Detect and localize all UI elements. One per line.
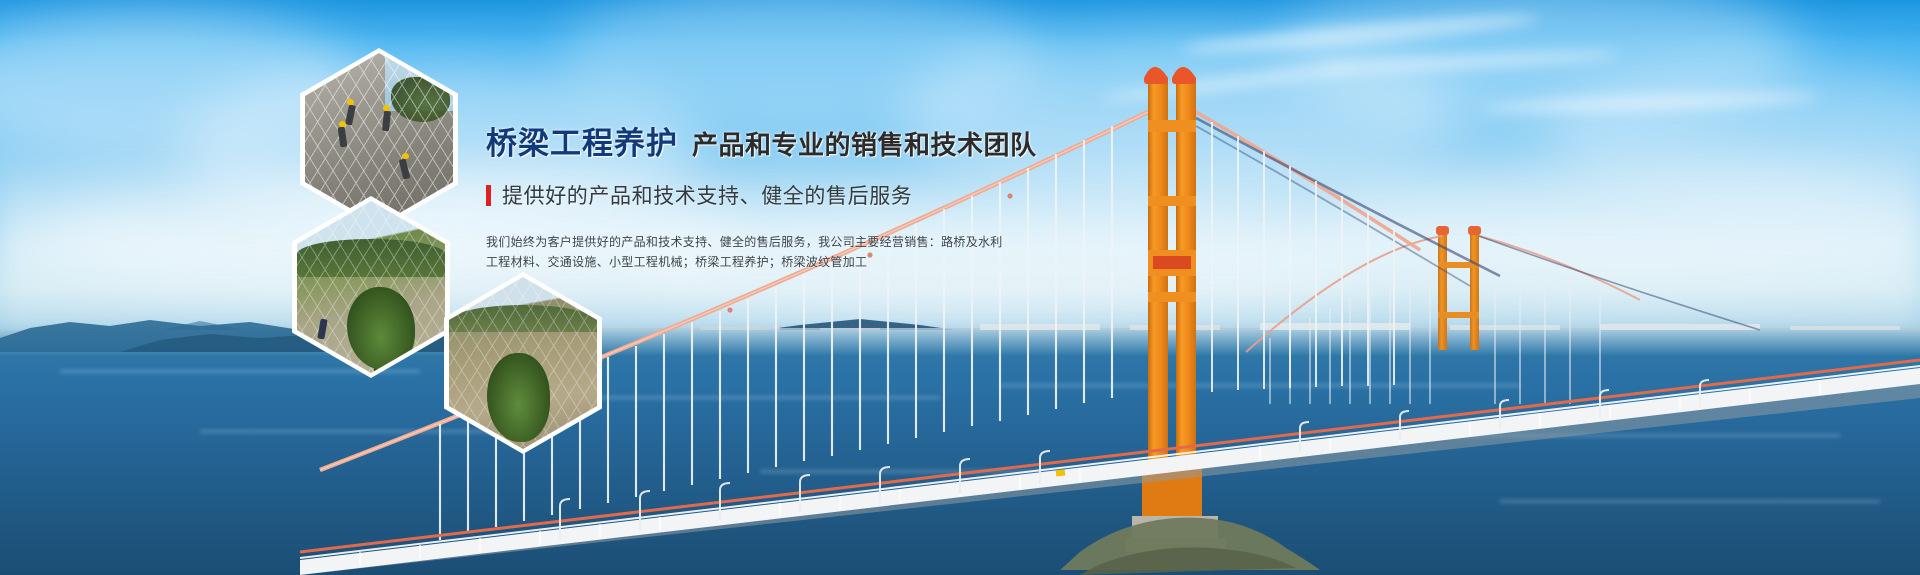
headline-secondary: 产品和专业的销售和技术团队 — [692, 125, 1037, 162]
banner-copy: 桥梁工程养护 产品和专业的销售和技术团队 提供好的产品和技术支持、健全的售后服务… — [486, 118, 1126, 272]
body-paragraph: 我们始终为客户提供好的产品和技术支持、健全的售后服务，我公司主要经营销售：路桥及… — [486, 232, 1126, 272]
sea-water — [0, 330, 1920, 575]
body-line-1: 我们始终为客户提供好的产品和技术支持、健全的售后服务，我公司主要经营销售：路桥及… — [486, 232, 1126, 252]
rockfall-mesh-overlay — [305, 53, 453, 225]
subtitle-row: 提供好的产品和技术支持、健全的售后服务 — [486, 180, 1126, 210]
body-line-2: 工程材料、交通设施、小型工程机械；桥梁工程养护；桥梁波纹管加工 — [486, 252, 1126, 272]
gallery-hex-2-image — [297, 201, 445, 373]
headline-primary: 桥梁工程养护 — [486, 118, 678, 163]
subtitle-text: 提供好的产品和技术支持、健全的售后服务 — [502, 180, 912, 210]
hero-banner: 桥梁工程养护 产品和专业的销售和技术团队 提供好的产品和技术支持、健全的售后服务… — [0, 0, 1920, 575]
headline-row: 桥梁工程养护 产品和专业的销售和技术团队 — [486, 118, 1126, 163]
red-accent-bar — [486, 185, 491, 206]
gallery-hex-1-image — [305, 53, 453, 225]
gallery-hex-3-image — [449, 277, 597, 449]
